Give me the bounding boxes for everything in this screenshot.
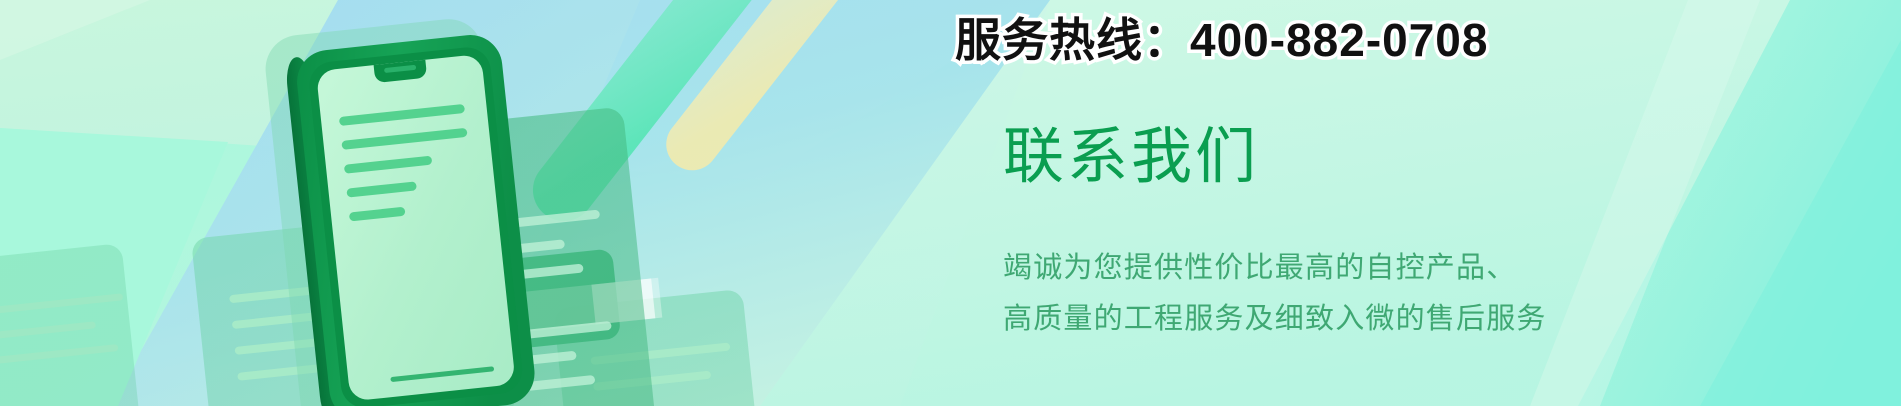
background-facets — [0, 0, 1901, 406]
smartphone-shape — [284, 32, 538, 406]
page-title: 联系我们 — [1003, 123, 1259, 190]
subtitle-line-1: 竭诚为您提供性价比最高的自控产品、 — [1003, 254, 1516, 283]
contact-us-banner: 服务热线：400-882-0708 联系我们 竭诚为您提供性价比最高的自控产品、… — [0, 0, 1901, 406]
service-hotline-text: 服务热线：400-882-0708 — [955, 14, 1488, 67]
subtitle-line-2: 高质量的工程服务及细致入微的售后服务 — [1003, 305, 1547, 334]
